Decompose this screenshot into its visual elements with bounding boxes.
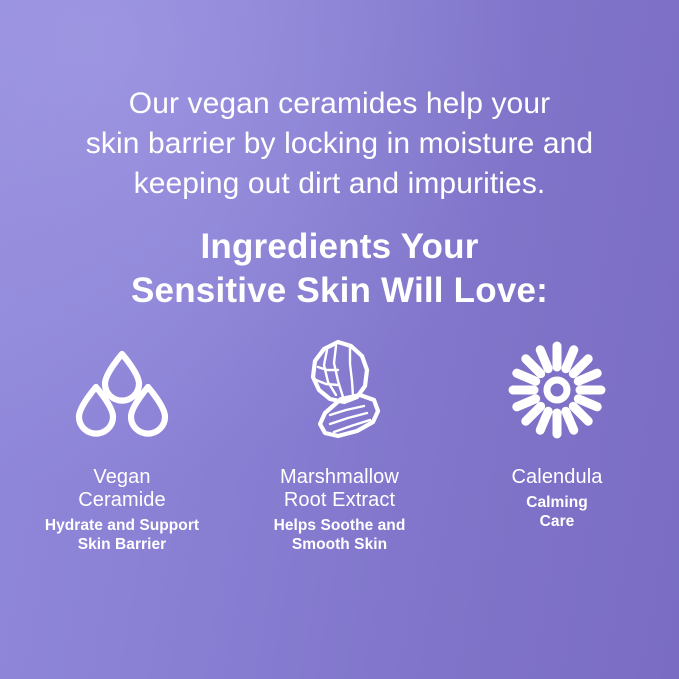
heading-line-2: Sensitive Skin Will Love:	[0, 269, 679, 313]
calendula-flower-icon	[502, 334, 612, 446]
ingredient-column-calendula: Calendula Calming Care	[451, 334, 663, 531]
ingredients-poster: Our vegan ceramides help your skin barri…	[0, 0, 679, 679]
heading-line-1: Ingredients Your	[0, 225, 679, 269]
ingredient-title: Marshmallow Root Extract	[280, 466, 399, 512]
intro-line-3: keeping out dirt and impurities.	[0, 164, 679, 204]
section-heading: Ingredients Your Sensitive Skin Will Lov…	[0, 225, 679, 313]
water-droplets-icon	[67, 334, 177, 446]
ingredient-columns: Vegan Ceramide Hydrate and Support Skin …	[0, 334, 679, 554]
ingredient-title: Calendula	[512, 466, 603, 489]
ingredient-title-line-1: Calendula	[512, 466, 603, 489]
ingredient-sub-line-1: Hydrate and Support	[45, 516, 199, 535]
ingredient-sub-line-1: Calming	[526, 493, 588, 512]
ingredient-column-marshmallow-root: Marshmallow Root Extract Helps Soothe an…	[234, 334, 446, 554]
marshmallow-root-icon	[285, 334, 395, 446]
ingredient-column-vegan-ceramide: Vegan Ceramide Hydrate and Support Skin …	[16, 334, 228, 554]
ingredient-subtitle: Calming Care	[526, 493, 588, 531]
ingredient-title-line-1: Vegan	[78, 466, 166, 489]
ingredient-sub-line-1: Helps Soothe and	[274, 516, 406, 535]
ingredient-title-line-1: Marshmallow	[280, 466, 399, 489]
ingredient-title-line-2: Root Extract	[280, 489, 399, 512]
ingredient-sub-line-2: Skin Barrier	[45, 535, 199, 554]
ingredient-subtitle: Helps Soothe and Smooth Skin	[274, 516, 406, 554]
intro-line-2: skin barrier by locking in moisture and	[0, 124, 679, 164]
ingredient-title-line-2: Ceramide	[78, 489, 166, 512]
ingredient-title: Vegan Ceramide	[78, 466, 166, 512]
intro-paragraph: Our vegan ceramides help your skin barri…	[0, 84, 679, 204]
ingredient-sub-line-2: Smooth Skin	[274, 535, 406, 554]
intro-line-1: Our vegan ceramides help your	[0, 84, 679, 124]
ingredient-sub-line-2: Care	[526, 512, 588, 531]
ingredient-subtitle: Hydrate and Support Skin Barrier	[45, 516, 199, 554]
poster-content: Our vegan ceramides help your skin barri…	[0, 0, 679, 679]
